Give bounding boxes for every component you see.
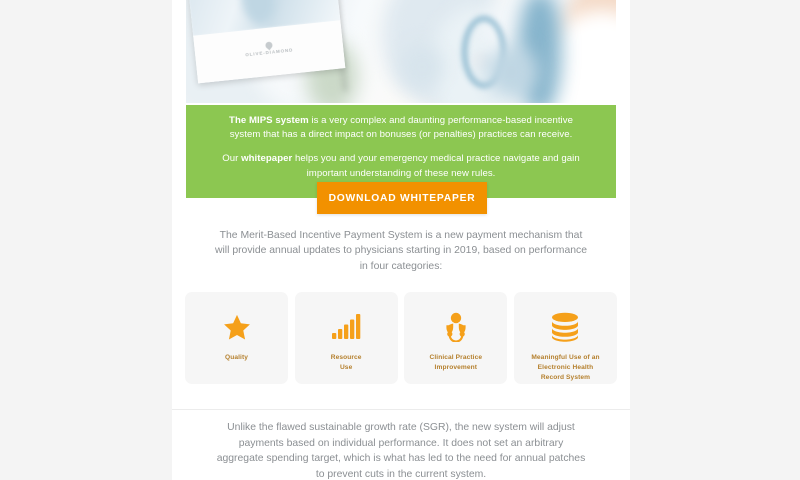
- section-divider: [172, 409, 630, 410]
- database-stack-icon: [549, 310, 581, 344]
- category-card-meaningful-use-ehr[interactable]: Meaningful Use of an Electronic Health R…: [514, 292, 617, 384]
- whitepaper-link[interactable]: whitepaper: [241, 153, 292, 164]
- category-label: Meaningful Use of an Electronic Health R…: [531, 353, 599, 384]
- bar-chart-icon: [331, 310, 361, 344]
- promo-paragraph-2-after: helps you and your emergency medical pra…: [292, 153, 579, 178]
- page-root: OLIVE-DIAMOND The MIPS system is a very …: [0, 0, 800, 480]
- category-label: Clinical Practice Improvement: [429, 353, 482, 373]
- hero-blur-shape: [486, 46, 538, 98]
- promo-paragraph-1: The MIPS system is a very complex and da…: [216, 114, 586, 142]
- promo-lead-bold: The MIPS system: [229, 115, 309, 126]
- intro-paragraph: The Merit-Based Incentive Payment System…: [214, 228, 588, 274]
- download-whitepaper-button[interactable]: DOWNLOAD WHITEPAPER: [317, 182, 487, 214]
- category-card-clinical-practice-improvement[interactable]: Clinical Practice Improvement: [404, 292, 507, 384]
- closing-paragraph: Unlike the flawed sustainable growth rat…: [214, 420, 588, 480]
- star-icon: [222, 310, 252, 344]
- category-card-resource-use[interactable]: Resource Use: [295, 292, 398, 384]
- promo-paragraph-2: Our whitepaper helps you and your emerge…: [216, 152, 586, 180]
- promo-paragraph-2-before: Our: [222, 153, 241, 164]
- hero-medical-photo: OLIVE-DIAMOND: [186, 0, 616, 103]
- hero-blur-shape: [400, 44, 444, 90]
- category-card-quality[interactable]: Quality: [185, 292, 288, 384]
- category-label: Quality: [225, 353, 248, 363]
- doctor-stethoscope-icon: [441, 310, 471, 344]
- category-label: Resource Use: [331, 353, 362, 373]
- content-card: OLIVE-DIAMOND The MIPS system is a very …: [172, 0, 630, 480]
- category-card-list: Quality Resource Use: [185, 292, 617, 384]
